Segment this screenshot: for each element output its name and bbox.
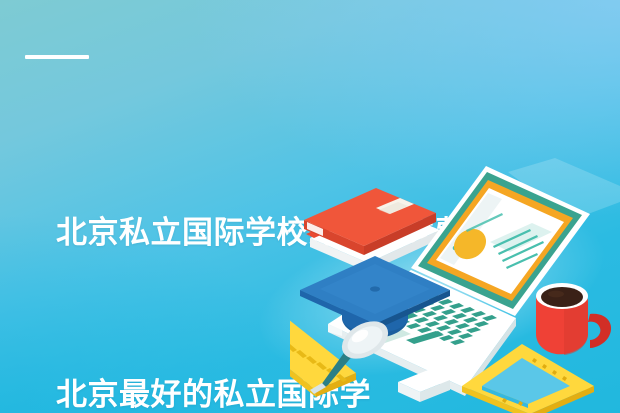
page-title-line-1: 北京私立国际学校排名及收费（ xyxy=(56,206,576,260)
top-accent-rule xyxy=(25,55,89,59)
page-title: 北京私立国际学校排名及收费（ 北京最好的私立国际学 xyxy=(56,98,576,413)
banner: 北京私立国际学校排名及收费（ 北京最好的私立国际学 xyxy=(0,0,620,413)
page-title-line-2: 北京最好的私立国际学 xyxy=(56,368,576,413)
